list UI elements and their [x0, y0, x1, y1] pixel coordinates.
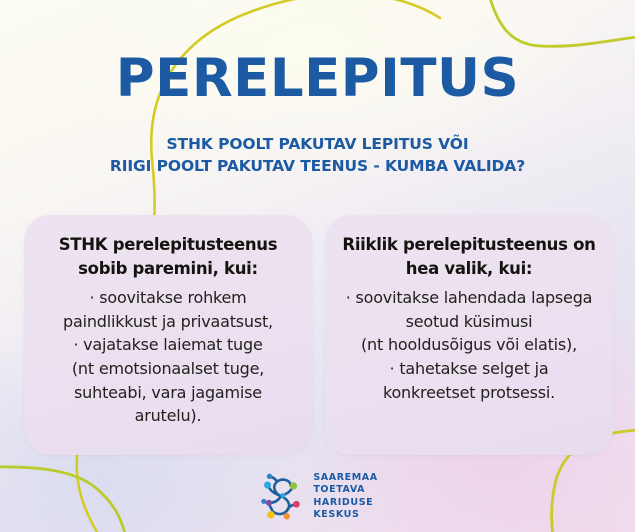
card-riiklik-body-line-2: seotud küsimusi [339, 310, 599, 334]
page-subtitle: STHK POOLT PAKUTAV LEPITUS VÕI RIIGI POO… [0, 133, 635, 177]
logo-dot-orange [284, 513, 290, 519]
organisation-logo: SAAREMAA TOETAVA HARIDUSE KESKUS [0, 472, 635, 522]
comparison-cards: STHK perelepitusteenus sobib paremini, k… [24, 215, 614, 455]
card-sthk-body-line-5: suhteabi, vara jagamise [38, 381, 298, 405]
logo-dot-blue [267, 474, 272, 479]
card-riiklik-body-line-4: · tahetakse selget ja [339, 357, 599, 381]
page-title: PERELEPITUS [0, 52, 635, 105]
card-sthk-body-line-2: paindlikkust ja privaatsust, [38, 310, 298, 334]
logo-dot-blue-2 [262, 499, 267, 504]
card-riiklik-body: · soovitakse lahendada lapsega seotud kü… [339, 286, 599, 404]
card-sthk-heading-line-1: STHK perelepitusteenus [38, 233, 298, 257]
card-riiklik-heading-line-2: hea valik, kui: [339, 257, 599, 281]
subtitle-line-2: RIIGI POOLT PAKUTAV TEENUS - KUMBA VALID… [0, 155, 635, 177]
card-sthk-body-line-3: · vajatakse laiemat tuge [38, 333, 298, 357]
poster-canvas: PERELEPITUS STHK POOLT PAKUTAV LEPITUS V… [0, 0, 635, 532]
card-sthk-heading: STHK perelepitusteenus sobib paremini, k… [38, 233, 298, 281]
logo-text-line-1: SAAREMAA [313, 472, 377, 485]
card-sthk-body: · soovitakse rohkem paindlikkust ja priv… [38, 286, 298, 428]
logo-text-line-4: KESKUS [313, 509, 377, 522]
logo-dot-yellow [268, 511, 275, 518]
logo-text-line-3: HARIDUSE [313, 497, 377, 510]
card-sthk-body-line-4: (nt emotsionaalset tuge, [38, 357, 298, 381]
logo-dot-cyan-2 [281, 493, 286, 498]
card-sthk: STHK perelepitusteenus sobib paremini, k… [24, 215, 312, 455]
logo-dot-cyan [264, 481, 271, 488]
logo-dot-green [290, 482, 297, 489]
card-riiklik-heading: Riiklik perelepitusteenus on hea valik, … [339, 233, 599, 281]
card-riiklik-body-line-1: · soovitakse lahendada lapsega [339, 286, 599, 310]
logo-text-line-2: TOETAVA [313, 484, 377, 497]
card-riiklik-body-line-5: konkreetset protsessi. [339, 381, 599, 405]
card-sthk-body-line-1: · soovitakse rohkem [38, 286, 298, 310]
card-sthk-body-line-6: arutelu). [38, 404, 298, 428]
logo-dot-purple [266, 500, 272, 506]
saaremaa-swirl-logo-icon [257, 473, 305, 521]
card-sthk-heading-line-2: sobib paremini, kui: [38, 257, 298, 281]
logo-wordmark: SAAREMAA TOETAVA HARIDUSE KESKUS [313, 472, 377, 522]
subtitle-line-1: STHK POOLT PAKUTAV LEPITUS VÕI [0, 133, 635, 155]
logo-dot-pink [293, 501, 300, 508]
card-riiklik-body-line-3: (nt hooldusõigus või elatis), [339, 333, 599, 357]
card-riiklik: Riiklik perelepitusteenus on hea valik, … [325, 215, 613, 455]
poster-content: PERELEPITUS STHK POOLT PAKUTAV LEPITUS V… [0, 0, 635, 532]
card-riiklik-heading-line-1: Riiklik perelepitusteenus on [339, 233, 599, 257]
